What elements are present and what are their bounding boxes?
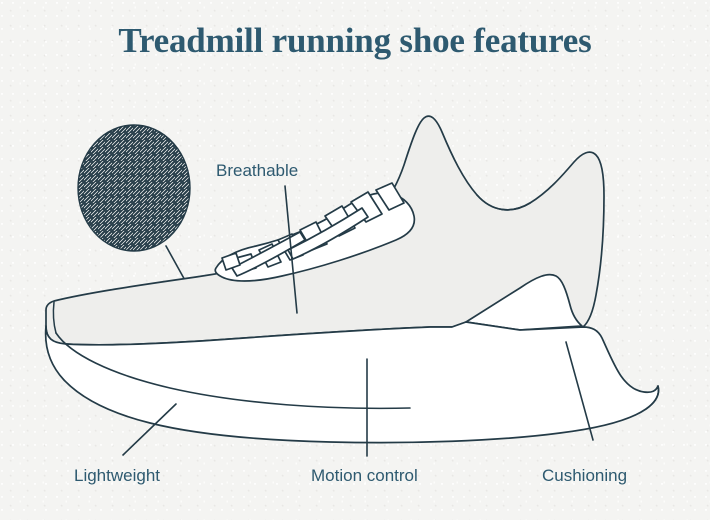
- callout-label-cushioning: Cushioning: [542, 466, 627, 485]
- callout-label-breathable: Breathable: [216, 161, 298, 180]
- mesh-magnifier: [76, 123, 194, 255]
- illustration-canvas: Treadmill running shoe features: [0, 0, 710, 520]
- callout-label-motion-control: Motion control: [311, 466, 418, 485]
- running-shoe-diagram: Breathable Lightweight Motion control Cu…: [0, 0, 710, 520]
- callout-label-lightweight: Lightweight: [74, 466, 160, 485]
